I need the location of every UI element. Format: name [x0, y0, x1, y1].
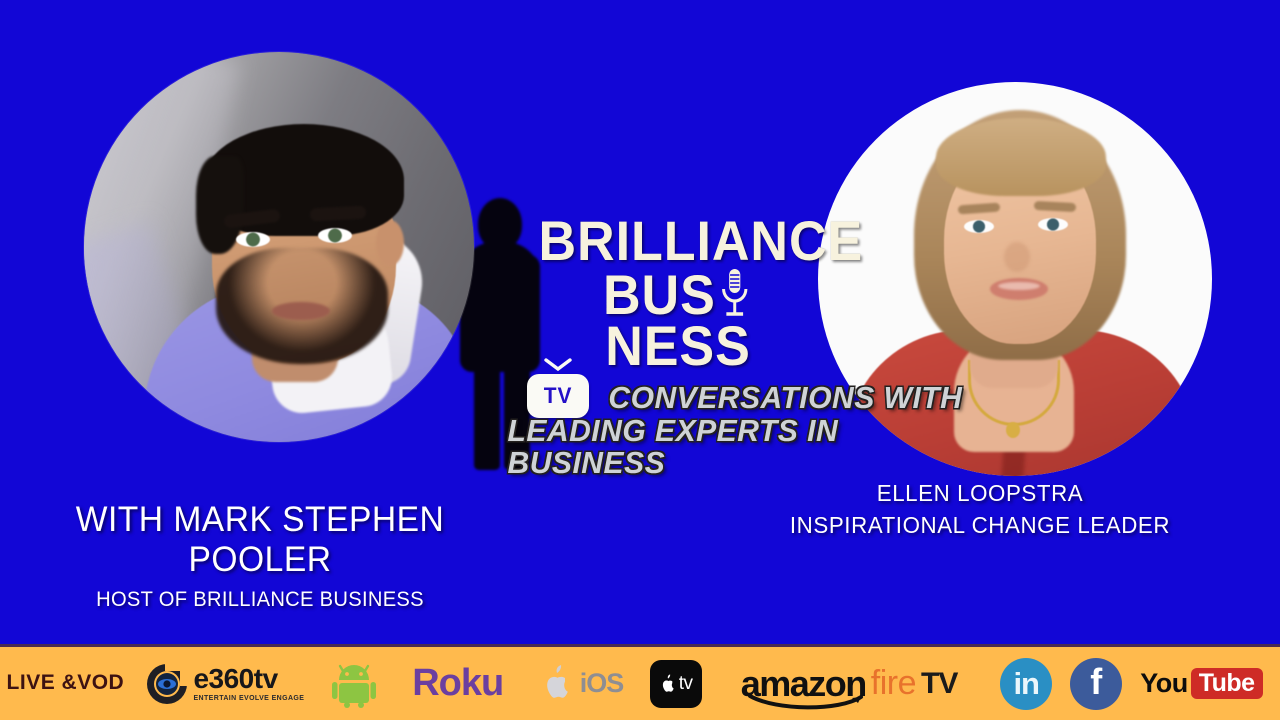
- show-logo: BRILLIANCE BUS NESS: [528, 215, 828, 372]
- host-name-block: WITH MARK STEPHEN POOLER HOST OF BRILLIA…: [0, 500, 520, 612]
- apple-logo-icon: [659, 674, 677, 694]
- amazon-wordmark: amazon: [741, 666, 866, 702]
- logo-line-brilliance: BRILLIANCE: [539, 215, 818, 267]
- host-photo: [84, 52, 474, 442]
- live-vod-line-1: LIVE &: [7, 672, 78, 695]
- e360tv-mark-icon: [145, 662, 189, 706]
- android-robot-icon: [332, 660, 376, 708]
- video-thumbnail-stage: BRILLIANCE BUS NESS: [0, 0, 1280, 720]
- host-subtitle: HOST OF BRILLIANCE BUSINESS: [10, 588, 509, 612]
- apple-tv-logo[interactable]: tv: [636, 647, 715, 720]
- live-vod-label: LIVE & VOD: [0, 647, 131, 720]
- e360tv-tagline: ENTERTAIN EVOLVE ENGAGE: [193, 695, 304, 702]
- guest-name-block: ELLEN LOOPSTRA INSPIRATIONAL CHANGE LEAD…: [760, 480, 1200, 539]
- linkedin-icon[interactable]: in: [1000, 658, 1052, 710]
- fire-label: fire: [871, 664, 916, 703]
- guest-name: ELLEN LOOPSTRA: [767, 480, 1194, 507]
- ios-logo[interactable]: iOS: [527, 647, 636, 720]
- amazon-fire-tv-logo[interactable]: amazon fire TV: [715, 647, 983, 720]
- ios-label: iOS: [580, 668, 624, 699]
- logo-text-ness: NESS: [605, 320, 751, 372]
- social-links: in f You Tube: [983, 647, 1280, 720]
- microphone-icon-svg: [719, 268, 751, 320]
- amazon-smile-icon: [747, 693, 867, 711]
- chevron-down-icon: [543, 358, 573, 372]
- apple-tv-label: tv: [679, 673, 693, 695]
- host-name: WITH MARK STEPHEN POOLER: [10, 500, 509, 580]
- youtube-tube-label: Tube: [1191, 668, 1263, 699]
- roku-logo[interactable]: Roku: [388, 647, 527, 720]
- e360tv-logo[interactable]: e360tv ENTERTAIN EVOLVE ENGAGE: [131, 647, 319, 720]
- guest-subtitle: INSPIRATIONAL CHANGE LEADER: [767, 512, 1194, 539]
- facebook-label: f: [1090, 664, 1102, 700]
- amazon-tv-label: TV: [921, 667, 957, 701]
- e360tv-wordmark: e360tv ENTERTAIN EVOLVE ENGAGE: [193, 665, 304, 702]
- platform-banner: LIVE & VOD e360tv ENTERTAIN EVOLVE ENGAG…: [0, 644, 1280, 720]
- show-tagline: CONVERSATIONS WITH LEADING EXPERTS IN BU…: [500, 382, 1000, 480]
- youtube-logo[interactable]: You Tube: [1140, 668, 1262, 699]
- linkedin-label: in: [1013, 668, 1039, 699]
- facebook-icon[interactable]: f: [1070, 658, 1122, 710]
- tagline-line-1: CONVERSATIONS WITH: [508, 382, 993, 415]
- apple-logo-icon: [540, 664, 574, 704]
- logo-text-bus: BUS: [603, 269, 716, 321]
- android-logo[interactable]: [319, 647, 388, 720]
- youtube-you-label: You: [1140, 668, 1188, 699]
- tagline-line-2: LEADING EXPERTS IN BUSINESS: [508, 415, 993, 480]
- logo-line-business: BUS NESS: [539, 269, 818, 372]
- live-vod-line-2: VOD: [77, 672, 124, 695]
- e360tv-name: e360tv: [193, 665, 304, 693]
